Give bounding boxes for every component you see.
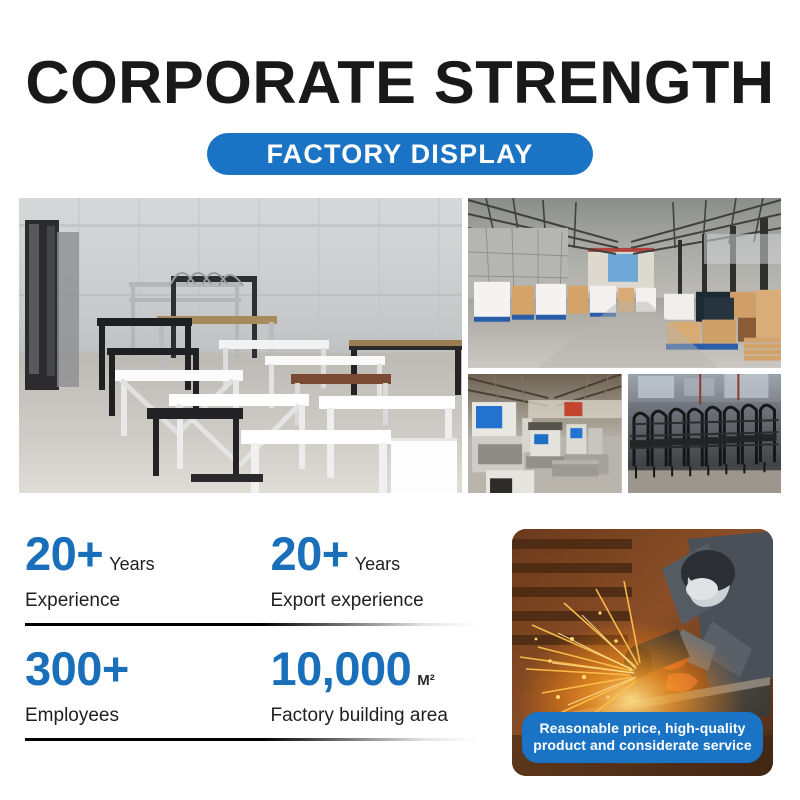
factory-warehouse-packing-photo bbox=[468, 198, 781, 368]
stat-number: 10,000 bbox=[271, 643, 412, 695]
welding-grinding-sparks-photo: Reasonable price, high-quality product a… bbox=[512, 529, 773, 776]
stat-factory-area: 10,000 M² Factory building area bbox=[253, 643, 481, 729]
stats-row-2: 300+ Employees 10,000 M² Factory buildin… bbox=[25, 643, 480, 741]
stats-divider bbox=[25, 623, 480, 626]
stat-experience: 20+ Years Experience bbox=[25, 528, 253, 614]
stats-row-1: 20+ Years Experience 20+ Years Export ex… bbox=[25, 528, 480, 626]
stat-number: 20+ bbox=[271, 528, 349, 580]
photo-right-column bbox=[468, 198, 781, 493]
stat-unit: M² bbox=[417, 671, 435, 691]
stat-number: 300+ bbox=[25, 643, 129, 695]
stat-unit: Years bbox=[109, 554, 154, 574]
stat-label: Factory building area bbox=[271, 699, 481, 729]
stat-employees: 300+ Employees bbox=[25, 643, 253, 729]
stat-unit: Years bbox=[355, 554, 400, 574]
cnc-machine-shop-photo bbox=[468, 374, 622, 493]
warehouse-desks-photo bbox=[19, 198, 462, 493]
subtitle-container: FACTORY DISPLAY bbox=[0, 133, 800, 175]
stat-label: Employees bbox=[25, 699, 253, 729]
stat-export-experience: 20+ Years Export experience bbox=[253, 528, 481, 614]
stat-label: Export experience bbox=[271, 584, 481, 614]
stat-label: Experience bbox=[25, 584, 253, 614]
photo-small-row bbox=[468, 374, 781, 493]
stat-number: 20+ bbox=[25, 528, 103, 580]
page-title: CORPORATE STRENGTH bbox=[0, 52, 800, 114]
factory-display-badge: FACTORY DISPLAY bbox=[207, 133, 593, 175]
stats-divider bbox=[25, 738, 480, 741]
company-stats: 20+ Years Experience 20+ Years Export ex… bbox=[25, 528, 480, 741]
welding-caption: Reasonable price, high-quality product a… bbox=[522, 712, 763, 763]
stacked-black-chairs-photo bbox=[628, 374, 782, 493]
factory-photo-grid bbox=[19, 198, 781, 493]
